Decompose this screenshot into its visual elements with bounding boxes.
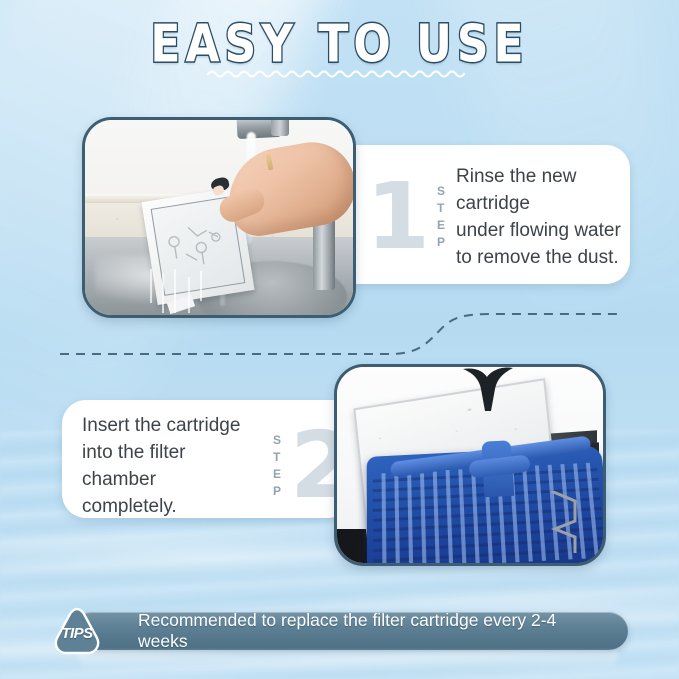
- page-title-text: EASY TO USE: [150, 18, 528, 73]
- step-letter-t: T: [273, 449, 281, 466]
- tips-bar-reflection: [78, 651, 618, 673]
- bracket-hook-icon: [545, 491, 585, 553]
- step-1-content: 1 S T E P Rinse the new cartridge under …: [366, 163, 630, 271]
- tips-badge-label: TIPS: [51, 606, 103, 656]
- step-2-photo: [334, 364, 606, 566]
- step-2-content: Insert the cartridge into the filter cha…: [82, 412, 352, 520]
- whale-tail-icon: [459, 365, 515, 411]
- step-letter-p: P: [273, 483, 281, 500]
- step-letter-s: S: [273, 432, 281, 449]
- tips-bar: Recommended to replace the filter cartri…: [72, 612, 628, 650]
- step-letter-e: E: [437, 217, 445, 234]
- filter-cartridge-print: [163, 215, 232, 276]
- faucet-neck: [271, 117, 289, 136]
- step-letter-t: T: [437, 200, 445, 217]
- step-letter-s: S: [437, 183, 445, 200]
- infographic-canvas: EASY TO USE 1 S T E P Rinse the new cart…: [0, 0, 679, 679]
- step-letter-p: P: [437, 234, 445, 251]
- wavy-line-icon: [0, 66, 679, 82]
- step-2-card: Insert the cartridge into the filter cha…: [62, 400, 352, 518]
- tips-badge: TIPS: [51, 606, 103, 656]
- step-1-number: 1: [366, 171, 428, 263]
- tips-text: Recommended to replace the filter cartri…: [138, 612, 610, 650]
- step-1-card: 1 S T E P Rinse the new cartridge under …: [330, 145, 630, 284]
- step-2-description: Insert the cartridge into the filter cha…: [82, 412, 262, 520]
- step-1-step-label: S T E P: [437, 183, 445, 251]
- step-1-description: Rinse the new cartridge under flowing wa…: [456, 163, 630, 271]
- page-title: EASY TO USE: [0, 22, 679, 68]
- step-2-step-label: S T E P: [273, 432, 281, 500]
- water-drips-icon: [143, 269, 215, 315]
- step-letter-e: E: [273, 466, 281, 483]
- step-1-photo: [82, 117, 356, 318]
